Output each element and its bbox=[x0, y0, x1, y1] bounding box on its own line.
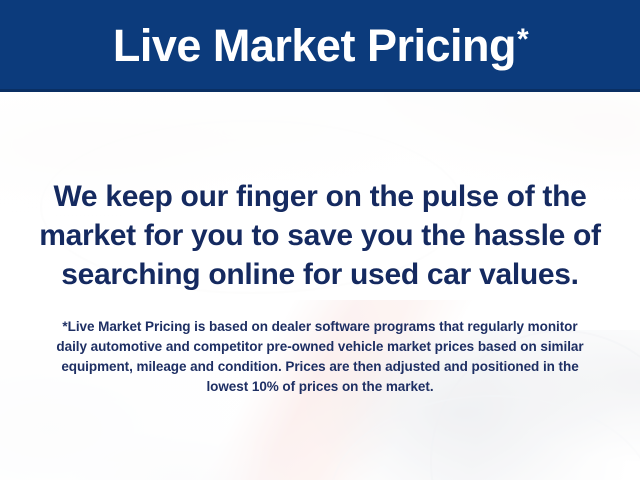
disclaimer-line-2: daily automotive and competitor pre-owne… bbox=[56, 339, 583, 354]
headline-line-2: market for you to save you the hassle of bbox=[39, 219, 601, 252]
page-title-footnote-marker: * bbox=[517, 23, 528, 56]
headline-line-3: searching online for used car values. bbox=[61, 258, 578, 291]
disclaimer-line-1: *Live Market Pricing is based on dealer … bbox=[62, 319, 577, 334]
headline-line-1: We keep our finger on the pulse of the bbox=[53, 180, 586, 213]
page-title-text: Live Market Pricing bbox=[113, 20, 516, 71]
content-area: We keep our finger on the pulse of the m… bbox=[0, 92, 640, 480]
disclaimer-line-3: equipment, mileage and condition. Prices… bbox=[61, 359, 578, 374]
disclaimer-text: *Live Market Pricing is based on dealer … bbox=[26, 317, 614, 397]
headline-statement: We keep our finger on the pulse of the m… bbox=[24, 177, 616, 294]
disclaimer-line-4: lowest 10% of prices on the market. bbox=[206, 379, 433, 394]
page-title: Live Market Pricing* bbox=[113, 23, 527, 70]
header-banner: Live Market Pricing* bbox=[0, 0, 640, 92]
live-market-pricing-banner: Live Market Pricing* We keep our finger … bbox=[0, 0, 640, 480]
